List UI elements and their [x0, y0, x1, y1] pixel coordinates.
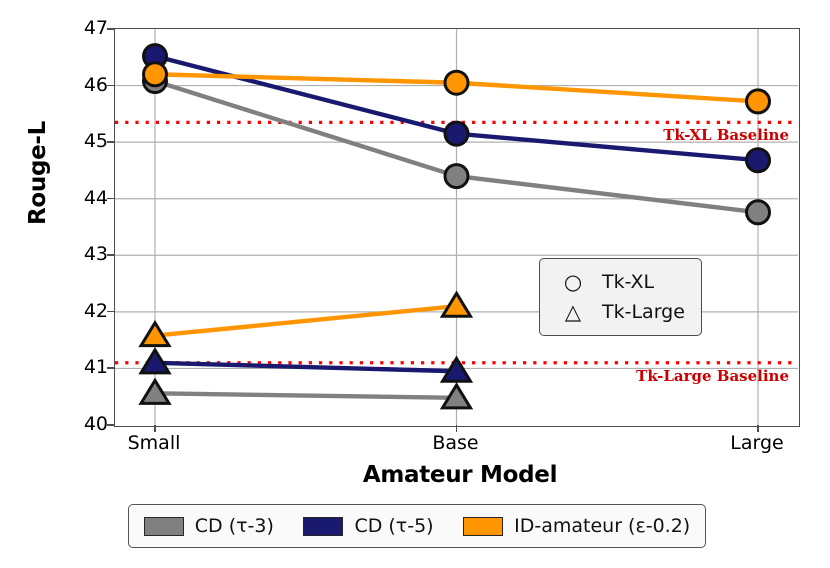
- y-tick-label: 46: [64, 74, 108, 96]
- baseline-label: Tk-XL Baseline: [663, 126, 789, 144]
- y-tick-mark: [107, 311, 114, 313]
- marker-legend-row: △Tk-Large: [550, 297, 685, 327]
- y-tick-mark: [107, 367, 114, 369]
- data-point-triangle: [443, 293, 471, 316]
- marker-legend-label: Tk-Large: [596, 301, 685, 323]
- marker-legend-row: ○Tk-XL: [550, 267, 685, 297]
- x-tick-mark: [154, 425, 156, 432]
- x-tick-mark: [456, 425, 458, 432]
- series-line: [155, 393, 457, 398]
- marker-legend-label: Tk-XL: [596, 271, 654, 293]
- y-tick-mark: [107, 198, 114, 200]
- y-tick-label: 43: [64, 243, 108, 265]
- series-color-swatch: [144, 517, 184, 536]
- x-tick-mark: [757, 425, 759, 432]
- x-axis-label: Amateur Model: [110, 462, 810, 488]
- y-tick-label: 40: [64, 413, 108, 435]
- x-tick-label: Small: [128, 432, 181, 454]
- triangle-marker-icon: △: [550, 302, 596, 323]
- y-tick-label: 42: [64, 300, 108, 322]
- x-tick-label: Large: [730, 432, 783, 454]
- y-tick-mark: [107, 28, 114, 30]
- series-legend-item: CD (τ-3): [144, 515, 274, 537]
- y-tick-mark: [107, 141, 114, 143]
- series-legend-item: ID-amateur (ε-0.2): [463, 515, 690, 537]
- data-point-circle: [747, 90, 770, 113]
- data-point-circle: [445, 71, 468, 94]
- y-tick-mark: [107, 85, 114, 87]
- series-color-swatch: [463, 517, 503, 536]
- series-color-swatch: [303, 517, 343, 536]
- y-tick-label: 45: [64, 130, 108, 152]
- series-legend-label: ID-amateur (ε-0.2): [514, 515, 690, 537]
- y-tick-mark: [107, 254, 114, 256]
- y-tick-label: 44: [64, 187, 108, 209]
- x-tick-label: Base: [432, 432, 478, 454]
- data-point-circle: [144, 63, 167, 86]
- y-axis-label: Rouge-L: [25, 73, 51, 273]
- data-point-circle: [747, 149, 770, 172]
- data-point-circle: [445, 165, 468, 188]
- chart-canvas: [115, 29, 798, 425]
- y-axis-ticks: 4041424344454647: [58, 28, 108, 427]
- data-point-circle: [747, 201, 770, 224]
- series-legend: CD (τ-3)CD (τ-5)ID-amateur (ε-0.2): [128, 504, 706, 548]
- series-legend-item: CD (τ-5): [303, 515, 433, 537]
- baseline-label: Tk-Large Baseline: [636, 367, 789, 385]
- data-point-circle: [445, 122, 468, 145]
- y-tick-label: 47: [64, 17, 108, 39]
- y-tick-label: 41: [64, 356, 108, 378]
- series-legend-label: CD (τ-3): [195, 515, 274, 537]
- series-line: [155, 306, 457, 335]
- circle-marker-icon: ○: [550, 272, 596, 293]
- chart-figure: Rouge-L Amateur Model 4041424344454647 S…: [0, 0, 830, 568]
- series-legend-label: CD (τ-5): [354, 515, 433, 537]
- marker-legend: ○Tk-XL△Tk-Large: [539, 258, 702, 336]
- y-tick-mark: [107, 424, 114, 426]
